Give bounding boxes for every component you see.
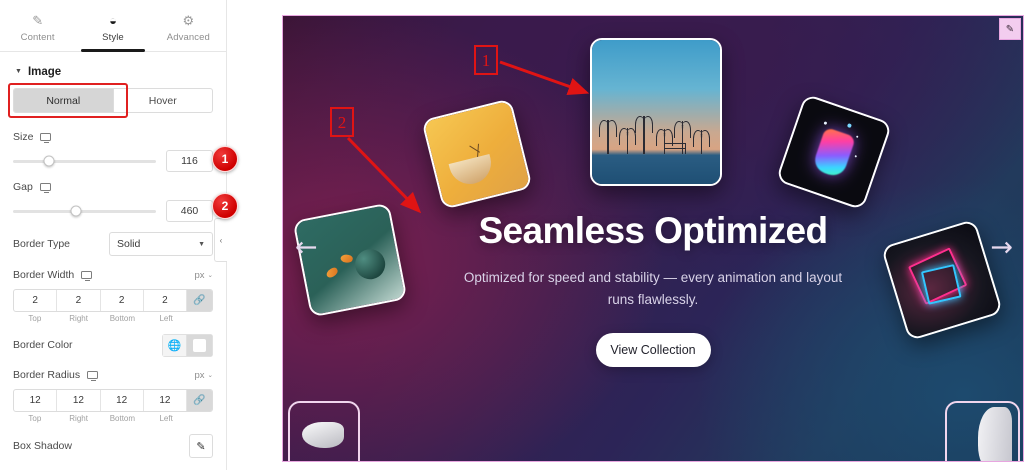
card-orange-bonsai[interactable] (421, 98, 533, 210)
border-radius-bottom[interactable]: 12 (101, 390, 144, 411)
tree-shape (627, 128, 629, 154)
border-type-select[interactable]: Solid ▼ (109, 232, 213, 256)
pencil-icon: ✎ (196, 440, 205, 453)
arrow-left-icon: ← (295, 232, 318, 263)
editor-root: ✎ Content ◒ Style ⚙ Advanced ▼ Image Nor… (0, 0, 1024, 470)
link-icon[interactable]: 🔗 (187, 390, 212, 411)
tab-advanced[interactable]: ⚙ Advanced (151, 0, 226, 51)
border-width-unit: px (195, 270, 205, 281)
control-size: Size 116 (13, 127, 213, 175)
gap-slider-thumb[interactable] (70, 206, 81, 217)
widget-edit-button[interactable]: ✎ (999, 18, 1021, 40)
label-top: Top (13, 314, 57, 323)
size-value-field[interactable]: 116 (166, 150, 213, 172)
card-image (778, 96, 890, 208)
monitor-icon[interactable] (40, 133, 51, 141)
chevron-down-icon: ⌄ (208, 371, 213, 379)
border-radius-top[interactable]: 12 (14, 390, 57, 411)
monitor-icon[interactable] (81, 271, 92, 279)
border-radius-label-row: Border Radius (13, 365, 98, 385)
pencil-icon: ✎ (32, 13, 43, 28)
border-width-inputs: 2 2 2 2 🔗 (13, 289, 213, 312)
chevron-down-icon: ▼ (198, 241, 205, 248)
border-color-swatch[interactable] (187, 334, 213, 357)
view-collection-label: View Collection (610, 343, 695, 357)
style-settings-sidebar: ✎ Content ◒ Style ⚙ Advanced ▼ Image Nor… (0, 0, 227, 470)
tree-shape (643, 116, 645, 154)
page-title: Seamless Optimized (283, 212, 1023, 251)
arrow-right-icon: → (990, 232, 1013, 263)
gap-label: Gap (13, 181, 33, 193)
box-shadow-label: Box Shadow (13, 440, 72, 452)
border-radius-unit: px (195, 370, 205, 381)
card-bottom-left-partial[interactable] (288, 401, 360, 462)
annotation-badge-2: 2 (212, 193, 238, 219)
border-width-right[interactable]: 2 (57, 290, 100, 311)
tab-content-label: Content (21, 32, 55, 43)
border-radius-unit-select[interactable]: px ⌄ (195, 370, 214, 381)
tree-shape (701, 130, 703, 154)
border-width-bottom[interactable]: 2 (101, 290, 144, 311)
toggle-hover[interactable]: Hover (113, 89, 213, 112)
label-left: Left (144, 414, 188, 423)
image-section-header[interactable]: ▼ Image (13, 52, 213, 88)
tab-content[interactable]: ✎ Content (0, 0, 75, 51)
style-panel: ▼ Image Normal Hover Size (0, 52, 226, 463)
border-radius-left[interactable]: 12 (144, 390, 187, 411)
link-icon[interactable]: 🔗 (187, 290, 212, 311)
tab-style[interactable]: ◒ Style (75, 0, 150, 51)
card-trees-dusk[interactable] (590, 38, 722, 186)
settings-tab-bar: ✎ Content ◒ Style ⚙ Advanced (0, 0, 226, 52)
gap-slider-row: 460 (13, 197, 213, 225)
gap-slider-track[interactable] (13, 210, 156, 213)
control-border-color: Border Color 🌐 (13, 327, 213, 363)
border-radius-label: Border Radius (13, 369, 80, 381)
size-label: Size (13, 131, 33, 143)
sparkle-icon (846, 123, 851, 128)
border-color-swatches: 🌐 (162, 334, 213, 357)
card-image (424, 101, 531, 208)
border-type-value: Solid (117, 238, 140, 250)
hero-subtitle: Optimized for speed and stability — ever… (458, 267, 848, 311)
box-shadow-edit-button[interactable]: ✎ (189, 434, 213, 458)
silhouette-shape (978, 407, 1012, 462)
sparkle-icon (823, 121, 827, 125)
gear-icon: ⚙ (182, 13, 194, 28)
globe-icon[interactable]: 🌐 (162, 334, 187, 357)
bench-shape (664, 143, 686, 154)
label-bottom: Bottom (101, 414, 145, 423)
annotation-badge-1: 1 (212, 146, 238, 172)
annotation-box-1: 1 (474, 45, 498, 75)
bowl-shape (449, 154, 496, 188)
border-width-top[interactable]: 2 (14, 290, 57, 311)
card-neon-jar[interactable] (776, 94, 893, 211)
border-radius-right[interactable]: 12 (57, 390, 100, 411)
size-slider-thumb[interactable] (43, 156, 54, 167)
normal-hover-toggle: Normal Hover (13, 88, 213, 113)
border-width-left[interactable]: 2 (144, 290, 187, 311)
label-left: Left (144, 314, 188, 323)
tree-shape (607, 120, 609, 154)
chevron-left-icon: ‹ (220, 236, 223, 245)
tab-style-label: Style (102, 32, 124, 43)
next-slide-arrow[interactable]: → (990, 234, 1013, 261)
control-gap: Gap 460 (13, 177, 213, 225)
preview-canvas: ✎ ← → (227, 0, 1024, 470)
toggle-normal[interactable]: Normal (14, 89, 113, 112)
jar-shape (811, 127, 856, 179)
border-width-label-row: Border Width (13, 265, 92, 285)
gap-value-field[interactable]: 460 (166, 200, 213, 222)
caret-down-icon: ▼ (15, 68, 22, 75)
sidebar-collapse-handle[interactable]: ‹ (214, 218, 227, 262)
gap-label-row: Gap (13, 177, 213, 197)
label-bottom: Bottom (101, 314, 145, 323)
border-type-label: Border Type (13, 238, 70, 250)
control-border-type: Border Type Solid ▼ (13, 227, 213, 261)
sparkle-icon (856, 136, 859, 139)
control-border-width: Border Width px ⌄ 2 2 2 2 🔗 Top (13, 265, 213, 323)
size-label-row: Size (13, 127, 213, 147)
contrast-icon: ◒ (109, 13, 117, 28)
label-right: Right (57, 414, 101, 423)
size-slider-track[interactable] (13, 160, 156, 163)
state-toggle-wrapper: Normal Hover (13, 88, 213, 127)
chevron-down-icon: ⌄ (208, 271, 213, 279)
monitor-icon[interactable] (87, 371, 98, 379)
control-box-shadow: Box Shadow ✎ (13, 429, 213, 463)
label-top: Top (13, 414, 57, 423)
pencil-icon: ✎ (1006, 24, 1014, 35)
monitor-icon[interactable] (40, 183, 51, 191)
abstract-shape (302, 422, 344, 448)
tab-advanced-label: Advanced (167, 32, 210, 43)
border-width-unit-select[interactable]: px ⌄ (195, 270, 214, 281)
annotation-box-2: 2 (330, 107, 354, 137)
card-image (592, 40, 720, 184)
previous-slide-arrow[interactable]: ← (295, 234, 318, 261)
border-color-label: Border Color (13, 339, 73, 351)
image-section-title: Image (28, 66, 61, 78)
border-width-side-labels: Top Right Bottom Left (13, 314, 213, 323)
slider-widget-stage: ✎ ← → (282, 15, 1024, 462)
view-collection-button[interactable]: View Collection (596, 333, 711, 367)
border-width-label: Border Width (13, 269, 74, 281)
hero-content: Seamless Optimized Optimized for speed a… (283, 212, 1023, 367)
label-right: Right (57, 314, 101, 323)
border-radius-head: Border Radius px ⌄ (13, 365, 213, 385)
card-bottom-right-partial[interactable] (945, 401, 1020, 462)
border-width-head: Border Width px ⌄ (13, 265, 213, 285)
sparkle-icon (854, 156, 857, 159)
size-slider-row: 116 (13, 147, 213, 175)
border-radius-inputs: 12 12 12 12 🔗 (13, 389, 213, 412)
control-border-radius: Border Radius px ⌄ 12 12 12 12 🔗 (13, 365, 213, 423)
border-radius-side-labels: Top Right Bottom Left (13, 414, 213, 423)
